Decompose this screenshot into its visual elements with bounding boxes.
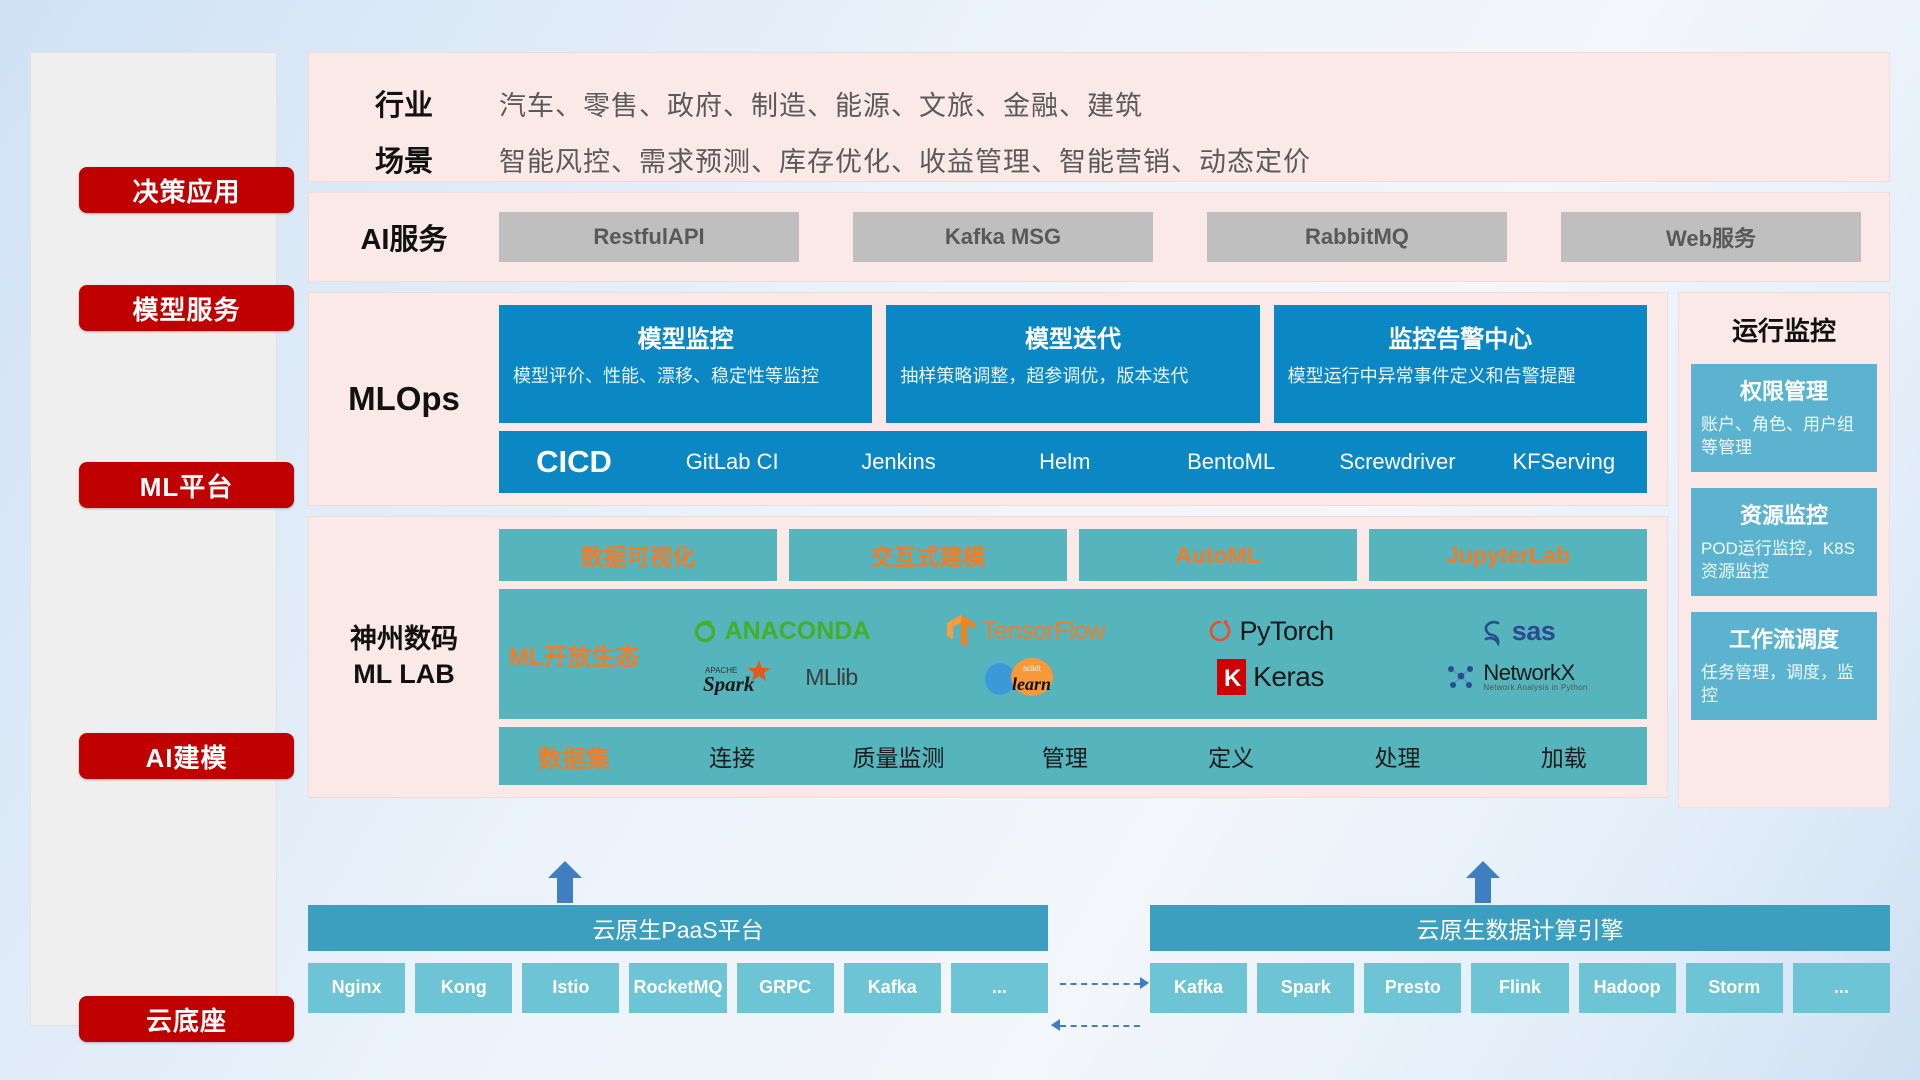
cloud-chip-rocketmq[interactable]: RocketMQ [629,963,726,1013]
mlops-key: MLOps [309,305,499,493]
networkx-icon [1443,661,1477,693]
svg-text:Spark: Spark [703,672,755,695]
business-key-scenario: 场景 [309,138,499,180]
tensorflow-icon [946,614,976,648]
sas-logo-text: sas [1512,616,1556,647]
monitor-card-title: 资源监控 [1701,498,1867,530]
lab-key-line1: 神州数码 [350,622,458,657]
spark-mllib-logo: APACHE Spark MLlib [703,659,857,695]
architecture-diagram: 决策应用 模型服务 ML平台 AI建模 云底座 行业 汽车、零售、政府、制造、能… [0,0,1920,1080]
mlops-card-title: 模型迭代 [900,319,1245,354]
cloud-chip-kafka-paas[interactable]: Kafka [844,963,941,1013]
business-row-scenario: 场景 智能风控、需求预测、库存优化、收益管理、智能营销、动态定价 [309,131,1889,187]
ml-ecosystem-row: ML开放生态 ANACONDA [499,589,1647,719]
keras-logo: K Keras [1217,658,1324,696]
cloud-data-engine-column: 云原生数据计算引擎 Kafka Spark Presto Flink Hadoo… [1150,905,1890,1013]
runtime-monitor-title: 运行监控 [1691,311,1877,348]
ai-service-chip-rabbitmq[interactable]: RabbitMQ [1207,212,1507,262]
cloud-chip-more-engine[interactable]: ... [1793,963,1890,1013]
cicd-item-helm[interactable]: Helm [982,450,1148,473]
ai-service-chip-kafka-msg[interactable]: Kafka MSG [853,212,1153,262]
networkx-logo-text: NetworkX [1483,662,1587,684]
cloud-columns: 云原生PaaS平台 Nginx Kong Istio RocketMQ GRPC… [308,905,1890,1013]
spark-icon: APACHE Spark [703,659,799,695]
dashed-link-left [1060,1025,1140,1027]
dataset-row: 数据集 连接 质量监测 管理 定义 处理 加载 [499,727,1647,785]
cicd-item-bentoml[interactable]: BentoML [1148,450,1314,473]
dataset-item-management[interactable]: 管理 [982,739,1148,773]
ai-service-items: RestfulAPI Kafka MSG RabbitMQ Web服务 [499,212,1889,262]
dataset-item-connect[interactable]: 连接 [649,739,815,773]
mlops-band: MLOps 模型监控 模型评价、性能、漂移、稳定性等监控 模型迭代 抽样策略调整… [308,292,1668,506]
svg-text:scikit: scikit [1023,664,1042,673]
networkx-logo: NetworkX Network Analysis in Python [1443,661,1587,693]
mlops-card-alert-center[interactable]: 监控告警中心 模型运行中异常事件定义和告警提醒 [1274,305,1647,423]
arrow-up-data-engine-icon [1466,861,1500,903]
platform-and-monitor-row: MLOps 模型监控 模型评价、性能、漂移、稳定性等监控 模型迭代 抽样策略调整… [308,292,1890,808]
monitor-card-workflow[interactable]: 工作流调度 任务管理，调度，监控 [1691,612,1877,720]
tensorflow-logo: TensorFlow [946,614,1105,648]
monitor-card-title: 工作流调度 [1701,622,1867,654]
cloud-chip-spark[interactable]: Spark [1257,963,1354,1013]
cloud-foundation: 云原生PaaS平台 Nginx Kong Istio RocketMQ GRPC… [308,905,1890,1013]
lab-key-line2: ML LAB [353,657,455,692]
scikit-learn-icon: scikit learn [982,655,1070,699]
cloud-chip-presto[interactable]: Presto [1364,963,1461,1013]
ai-service-key: AI服务 [309,216,499,258]
cloud-paas-bar: 云原生PaaS平台 [308,905,1048,951]
stage-label-ml-platform[interactable]: ML平台 [79,462,294,508]
dataset-item-quality-monitoring[interactable]: 质量监测 [815,739,981,773]
cicd-row: CICD GitLab CI Jenkins Helm BentoML Scre… [499,431,1647,493]
svg-text:learn: learn [1012,674,1051,694]
tensorflow-logo-text: TensorFlow [982,617,1105,646]
stage-rail: 决策应用 模型服务 ML平台 AI建模 云底座 [30,52,277,1026]
pytorch-logo: PyTorch [1207,616,1333,647]
dataset-item-definition[interactable]: 定义 [1148,739,1314,773]
mlops-card-model-iteration[interactable]: 模型迭代 抽样策略调整，超参调优，版本迭代 [886,305,1259,423]
sas-icon [1476,616,1506,646]
ai-modeling-band: 神州数码 ML LAB 数据可视化 交互式建模 AutoML JupyterLa… [308,516,1668,798]
cloud-data-engine-chips: Kafka Spark Presto Flink Hadoop Storm ..… [1150,963,1890,1013]
business-value-scenario: 智能风控、需求预测、库存优化、收益管理、智能营销、动态定价 [499,140,1311,179]
ai-service-chip-restfulapi[interactable]: RestfulAPI [499,212,799,262]
monitor-card-desc: POD运行监控，K8S资源监控 [1701,538,1867,584]
business-band: 行业 汽车、零售、政府、制造、能源、文旅、金融、建筑 场景 智能风控、需求预测、… [308,52,1890,182]
lab-tabs: 数据可视化 交互式建模 AutoML JupyterLab [499,529,1647,581]
dataset-item-processing[interactable]: 处理 [1314,739,1480,773]
cicd-item-jenkins[interactable]: Jenkins [815,450,981,473]
mlops-cards: 模型监控 模型评价、性能、漂移、稳定性等监控 模型迭代 抽样策略调整，超参调优，… [499,305,1647,423]
keras-logo-text: Keras [1253,661,1324,693]
mlops-card-desc: 模型运行中异常事件定义和告警提醒 [1288,364,1633,388]
anaconda-logo: ANACONDA [691,617,871,646]
mlops-card-title: 模型监控 [513,319,858,354]
cloud-chip-kong[interactable]: Kong [415,963,512,1013]
stage-label-ai-modeling[interactable]: AI建模 [79,733,294,779]
dataset-item-loading[interactable]: 加载 [1481,739,1647,773]
ml-ecosystem-logos: ANACONDA TensorFlow [649,603,1647,705]
ml-ecosystem-label: ML开放生态 [499,637,649,672]
lab-key: 神州数码 ML LAB [309,529,499,785]
pytorch-icon [1207,616,1233,646]
cloud-data-engine-bar: 云原生数据计算引擎 [1150,905,1890,951]
lab-tab-data-visualization[interactable]: 数据可视化 [499,529,777,581]
dashed-arrow-right-icon [1140,977,1149,989]
business-key-industry: 行业 [309,82,499,124]
mlops-card-model-monitoring[interactable]: 模型监控 模型评价、性能、漂移、稳定性等监控 [499,305,872,423]
platform-column: MLOps 模型监控 模型评价、性能、漂移、稳定性等监控 模型迭代 抽样策略调整… [308,292,1668,808]
svg-text:K: K [1224,665,1242,692]
stage-label-decision-app[interactable]: 决策应用 [79,167,294,213]
ai-service-band: AI服务 RestfulAPI Kafka MSG RabbitMQ Web服务 [308,192,1890,282]
mlops-card-title: 监控告警中心 [1288,319,1633,354]
anaconda-logo-text: ANACONDA [725,617,871,646]
cloud-chip-storm[interactable]: Storm [1686,963,1783,1013]
stage-label-model-service[interactable]: 模型服务 [79,285,294,331]
monitor-card-title: 权限管理 [1701,374,1867,406]
spark-mllib-logo-text: MLlib [805,664,857,691]
monitor-card-desc: 任务管理，调度，监控 [1701,662,1867,708]
dashed-arrow-left-icon [1051,1019,1060,1031]
cloud-chip-grpc[interactable]: GRPC [737,963,834,1013]
arrow-up-paas-icon [548,861,582,903]
cloud-chip-hadoop[interactable]: Hadoop [1579,963,1676,1013]
cicd-item-kfserving[interactable]: KFServing [1481,450,1647,473]
lab-tab-interactive-modeling[interactable]: 交互式建模 [789,529,1067,581]
scikit-learn-logo: scikit learn [982,655,1070,699]
business-value-industry: 汽车、零售、政府、制造、能源、文旅、金融、建筑 [499,84,1143,123]
cloud-chip-flink[interactable]: Flink [1471,963,1568,1013]
cloud-paas-column: 云原生PaaS平台 Nginx Kong Istio RocketMQ GRPC… [308,905,1048,1013]
lab-tab-automl[interactable]: AutoML [1079,529,1357,581]
monitor-card-permission[interactable]: 权限管理 账户、角色、用户组等管理 [1691,364,1877,472]
mlops-body: 模型监控 模型评价、性能、漂移、稳定性等监控 模型迭代 抽样策略调整，超参调优，… [499,305,1667,493]
business-row-industry: 行业 汽车、零售、政府、制造、能源、文旅、金融、建筑 [309,75,1889,131]
cicd-title: CICD [499,444,649,480]
anaconda-icon [691,617,719,645]
ai-service-chip-web-service[interactable]: Web服务 [1561,212,1861,262]
cicd-item-gitlab-ci[interactable]: GitLab CI [649,450,815,473]
cloud-chip-nginx[interactable]: Nginx [308,963,405,1013]
mlops-card-desc: 抽样策略调整，超参调优，版本迭代 [900,364,1245,388]
pytorch-logo-text: PyTorch [1239,616,1333,647]
cicd-item-screwdriver[interactable]: Screwdriver [1314,450,1480,473]
stage-label-cloud-base[interactable]: 云底座 [79,996,294,1042]
monitor-card-resource[interactable]: 资源监控 POD运行监控，K8S资源监控 [1691,488,1877,596]
main-column: 行业 汽车、零售、政府、制造、能源、文旅、金融、建筑 场景 智能风控、需求预测、… [308,52,1890,818]
mlops-card-desc: 模型评价、性能、漂移、稳定性等监控 [513,364,858,388]
keras-icon: K [1217,658,1247,696]
lab-tab-jupyterlab[interactable]: JupyterLab [1369,529,1647,581]
cloud-paas-chips: Nginx Kong Istio RocketMQ GRPC Kafka ... [308,963,1048,1013]
dashed-link-right [1060,983,1140,985]
cloud-chip-kafka-engine[interactable]: Kafka [1150,963,1247,1013]
dataset-label: 数据集 [499,739,649,774]
sas-logo: sas [1476,616,1556,647]
runtime-monitor-panel: 运行监控 权限管理 账户、角色、用户组等管理 资源监控 POD运行监控，K8S资… [1678,292,1890,808]
lab-body: 数据可视化 交互式建模 AutoML JupyterLab ML开放生态 [499,529,1667,785]
cloud-chip-more-paas[interactable]: ... [951,963,1048,1013]
monitor-card-desc: 账户、角色、用户组等管理 [1701,414,1867,460]
cloud-chip-istio[interactable]: Istio [522,963,619,1013]
